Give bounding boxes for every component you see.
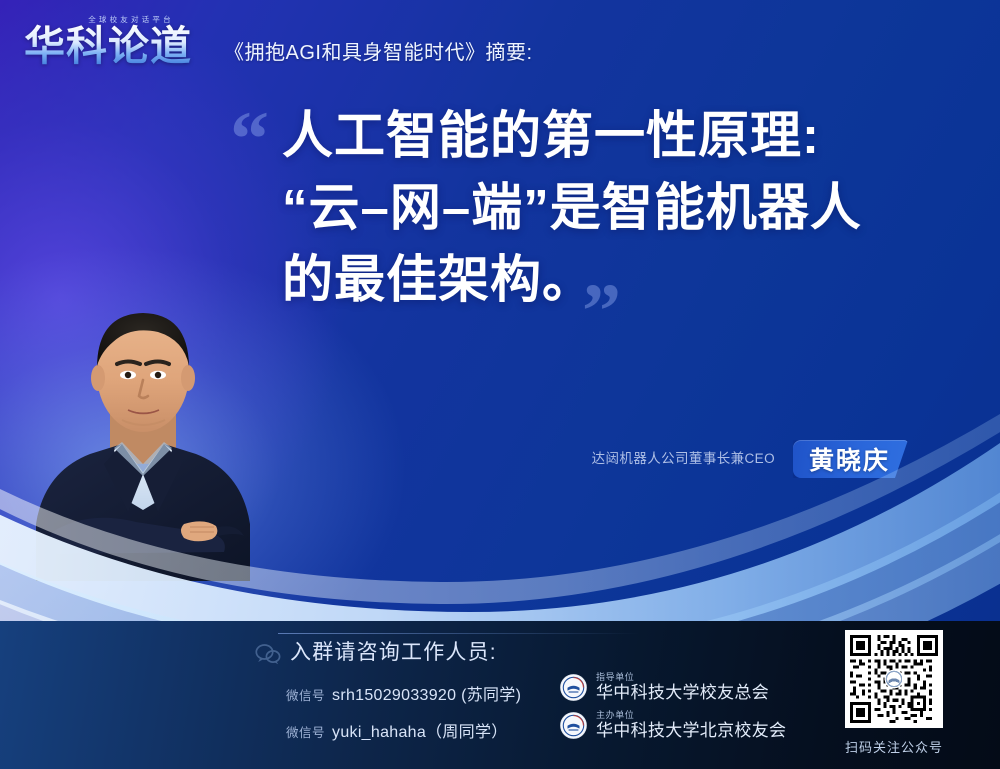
organizer-row: 指导单位 华中科技大学校友总会 xyxy=(560,672,769,702)
organizer-text: 主办单位 华中科技大学北京校友会 xyxy=(596,710,786,740)
quote-line: “云–网–端”是智能机器人 xyxy=(282,172,952,244)
brand-logo-wordmark: 华科论道 xyxy=(24,23,216,69)
organizer-row: 主办单位 华中科技大学北京校友会 xyxy=(560,710,786,740)
quote-lines: 人工智能的第一性原理: “云–网–端”是智能机器人 的最佳架构。 xyxy=(282,100,952,316)
quote-open-mark: “ xyxy=(230,104,269,174)
poster-header: 全球校友对话平台 华科论道 《拥抱AGI和具身智能时代》摘要: xyxy=(0,0,1000,92)
contact-heading: 入群请咨询工作人员: xyxy=(290,636,497,666)
wechat-label: 微信号 xyxy=(286,726,325,740)
wechat-contact-row: 微信号srh15029033920 (苏同学) xyxy=(286,681,521,705)
organizer-kind: 指导单位 xyxy=(596,672,769,683)
university-emblem-icon xyxy=(560,674,587,701)
speaker-credit: 达闼机器人公司董事长兼CEO 黄晓庆 xyxy=(592,440,908,478)
organizer-name: 华中科技大学校友总会 xyxy=(596,683,769,702)
wechat-id: srh15029033920 (苏同学) xyxy=(332,687,521,704)
university-emblem-icon xyxy=(560,712,587,739)
poster-canvas: 全球校友对话平台 华科论道 《拥抱AGI和具身智能时代》摘要: “ ” 人工智能… xyxy=(0,0,1000,769)
wechat-contact-row: 微信号yuki_hahaha（周同学） xyxy=(286,718,508,742)
quote-block: “ ” 人工智能的第一性原理: “云–网–端”是智能机器人 的最佳架构。 xyxy=(230,100,950,350)
footer-divider xyxy=(278,633,640,634)
speaker-portrait xyxy=(18,296,268,581)
qr-block: 扫码关注公众号 xyxy=(838,630,950,756)
quote-line: 人工智能的第一性原理: xyxy=(282,100,952,172)
quote-line: 的最佳架构。 xyxy=(282,244,952,316)
speaker-role: 达闼机器人公司董事长兼CEO xyxy=(592,440,775,478)
brand-logo: 全球校友对话平台 华科论道 xyxy=(24,14,216,70)
qr-code[interactable] xyxy=(845,630,943,728)
speaker-name: 黄晓庆 xyxy=(809,441,890,477)
organizer-text: 指导单位 华中科技大学校友总会 xyxy=(596,672,769,702)
wechat-label: 微信号 xyxy=(286,689,325,703)
page-title: 《拥抱AGI和具身智能时代》摘要: xyxy=(224,38,533,68)
speaker-name-badge: 黄晓庆 xyxy=(793,440,908,478)
wechat-icon xyxy=(255,643,281,665)
organizer-kind: 主办单位 xyxy=(596,710,786,721)
wechat-id: yuki_hahaha（周同学） xyxy=(332,724,508,741)
qr-caption: 扫码关注公众号 xyxy=(838,737,950,756)
organizer-name: 华中科技大学北京校友会 xyxy=(596,721,786,740)
